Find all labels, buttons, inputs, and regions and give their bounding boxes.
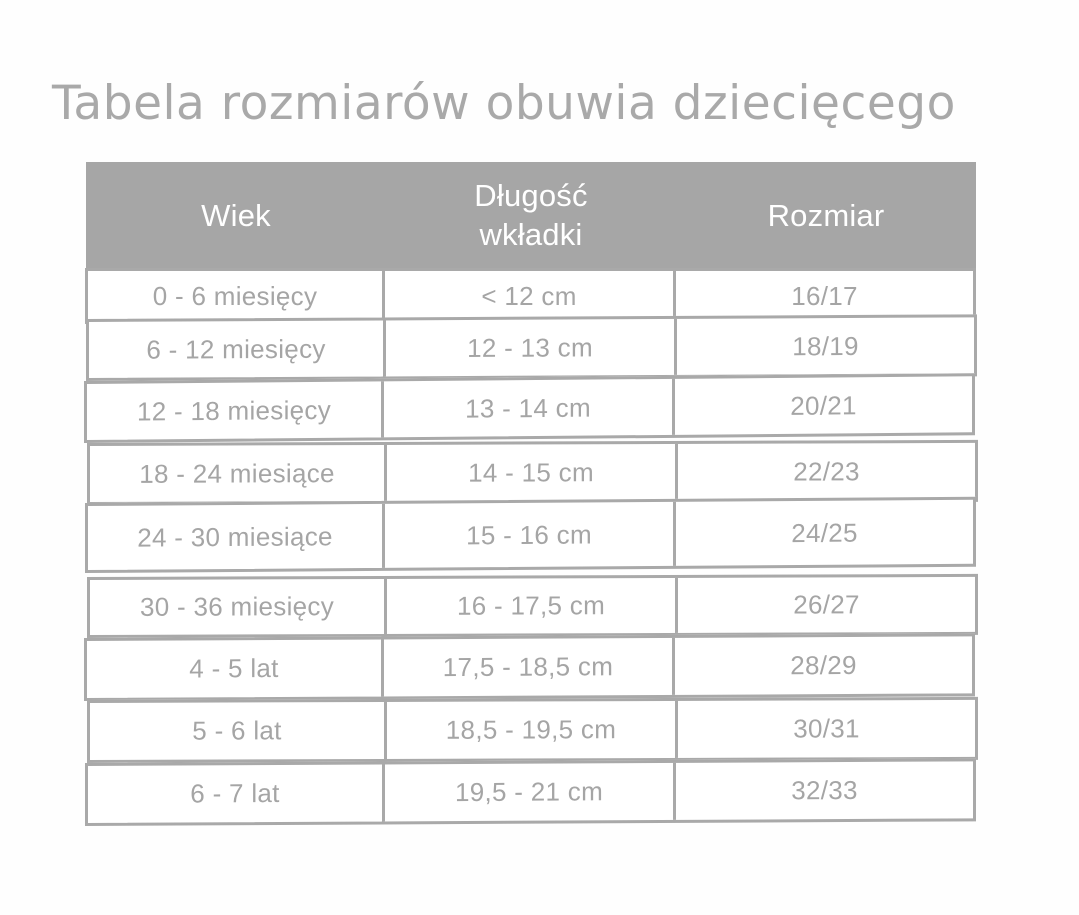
table-cell-rozmiar: 16/17 [676, 271, 973, 321]
table-cell-dlugosc_wkladki: 17,5 - 18,5 cm [384, 638, 675, 697]
table-cell-wiek: 30 - 36 miesięcy [90, 579, 387, 635]
table-cell-dlugosc_wkladki: 16 - 17,5 cm [387, 578, 678, 634]
table-row: 12 - 18 miesięcy13 - 14 cm20/21 [84, 373, 975, 443]
table-cell-dlugosc_wkladki: 14 - 15 cm [387, 444, 678, 501]
table-row: 6 - 12 miesięcy12 - 13 cm18/19 [86, 314, 977, 381]
table-cell-dlugosc_wkladki: 12 - 13 cm [386, 319, 677, 377]
column-header-rozmiar: Rozmiar [676, 162, 976, 270]
table-cell-wiek: 6 - 12 miesięcy [89, 320, 386, 378]
table-cell-wiek: 12 - 18 miesięcy [87, 381, 384, 440]
table-cell-wiek: 24 - 30 miesiące [88, 504, 385, 570]
table-cell-rozmiar: 24/25 [676, 500, 973, 566]
table-row: 4 - 5 lat17,5 - 18,5 cm28/29 [84, 633, 975, 701]
table-cell-rozmiar: 20/21 [675, 376, 972, 435]
table-cell-wiek: 0 - 6 miesięcy [88, 271, 385, 321]
table-cell-rozmiar: 22/23 [678, 443, 975, 500]
table-cell-wiek: 4 - 5 lat [87, 639, 384, 698]
table-cell-rozmiar: 18/19 [677, 317, 974, 375]
table-row: 5 - 6 lat18,5 - 19,5 cm30/31 [87, 697, 978, 763]
table-cell-rozmiar: 32/33 [676, 761, 973, 820]
table-cell-rozmiar: 26/27 [678, 577, 975, 633]
table-row: 24 - 30 miesiące15 - 16 cm24/25 [85, 497, 976, 573]
table-cell-rozmiar: 28/29 [675, 636, 972, 695]
table-body: 0 - 6 miesięcy< 12 cm16/176 - 12 miesięc… [84, 268, 980, 832]
table-cell-dlugosc_wkladki: 19,5 - 21 cm [385, 763, 676, 822]
page-title: Tabela rozmiarów obuwia dziecięcego [52, 71, 1032, 137]
table-cell-rozmiar: 30/31 [678, 700, 975, 758]
column-header-dlugosc-wkladki: Długość wkładki [386, 162, 676, 270]
table-cell-wiek: 6 - 7 lat [88, 764, 385, 823]
column-header-wiek: Wiek [86, 162, 386, 270]
table-row: 18 - 24 miesiące14 - 15 cm22/23 [87, 440, 978, 505]
table-cell-dlugosc_wkladki: 13 - 14 cm [384, 379, 675, 438]
table-cell-wiek: 18 - 24 miesiące [90, 445, 387, 502]
size-chart-page: Tabela rozmiarów obuwia dziecięcego Wiek… [0, 0, 1079, 915]
size-chart-table: Wiek Długość wkładki Rozmiar 0 - 6 miesi… [84, 160, 980, 832]
table-row: 6 - 7 lat19,5 - 21 cm32/33 [85, 758, 976, 826]
table-cell-dlugosc_wkladki: 15 - 16 cm [385, 502, 676, 568]
table-row: 30 - 36 miesięcy16 - 17,5 cm26/27 [87, 574, 978, 638]
table-cell-dlugosc_wkladki: < 12 cm [385, 271, 676, 321]
table-cell-dlugosc_wkladki: 18,5 - 19,5 cm [387, 701, 678, 759]
table-header-row: Wiek Długość wkładki Rozmiar [86, 162, 976, 270]
table-cell-wiek: 5 - 6 lat [90, 702, 387, 760]
